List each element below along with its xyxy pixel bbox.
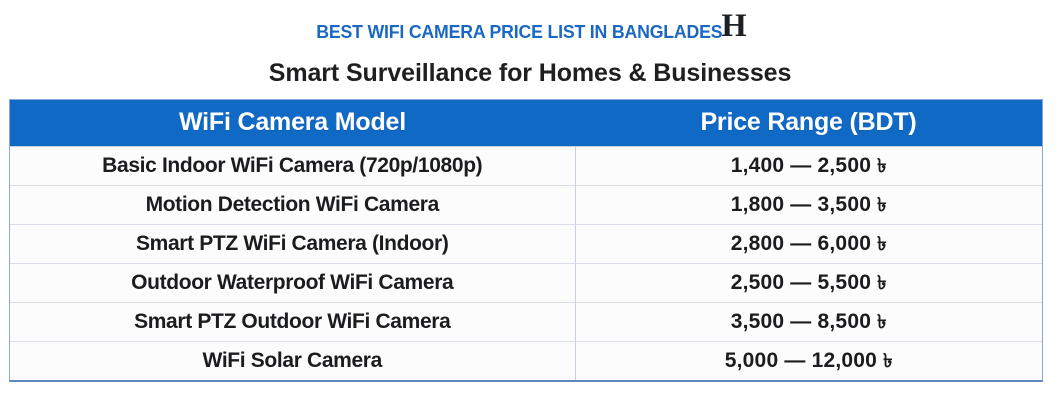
column-header-price: Price Range (BDT) xyxy=(575,100,1042,146)
price-table-body: Basic Indoor WiFi Camera (720p/1080p)1,4… xyxy=(10,146,1042,380)
price-list-infographic: BEST WIFI CAMERA PRICE LIST IN BANGLADES… xyxy=(0,0,1060,400)
cell-camera-model: Smart PTZ Outdoor WiFi Camera xyxy=(10,302,575,341)
column-header-model: WiFi Camera Model xyxy=(10,100,575,146)
table-row: WiFi Solar Camera5,000 — 12,000 ৳ xyxy=(10,341,1042,380)
table-row: Motion Detection WiFi Camera1,800 — 3,50… xyxy=(10,185,1042,224)
page-subtitle: Smart Surveillance for Homes & Businesse… xyxy=(0,58,1060,88)
table-row: Outdoor Waterproof WiFi Camera2,500 — 5,… xyxy=(10,263,1042,302)
cell-price-range: 2,800 — 6,000 ৳ xyxy=(575,224,1042,263)
page-title-trailing-letter: H xyxy=(721,8,746,44)
cell-camera-model: WiFi Solar Camera xyxy=(10,341,575,380)
page-title-text: BEST WIFI CAMERA PRICE LIST IN BANGLADES xyxy=(316,22,722,42)
price-table-container: WiFi Camera Model Price Range (BDT) Basi… xyxy=(9,99,1043,382)
taka-currency-symbol: ৳ xyxy=(877,311,887,333)
taka-currency-symbol: ৳ xyxy=(877,155,887,177)
cell-camera-model: Basic Indoor WiFi Camera (720p/1080p) xyxy=(10,146,575,185)
cell-price-range: 1,400 — 2,500 ৳ xyxy=(575,146,1042,185)
cell-camera-model: Smart PTZ WiFi Camera (Indoor) xyxy=(10,224,575,263)
table-header-row: WiFi Camera Model Price Range (BDT) xyxy=(10,100,1042,146)
page-title: BEST WIFI CAMERA PRICE LIST IN BANGLADES… xyxy=(8,6,1052,54)
cell-price-range: 2,500 — 5,500 ৳ xyxy=(575,263,1042,302)
cell-price-range: 5,000 — 12,000 ৳ xyxy=(575,341,1042,380)
taka-currency-symbol: ৳ xyxy=(877,272,887,294)
price-table: WiFi Camera Model Price Range (BDT) Basi… xyxy=(10,100,1042,380)
cell-price-range: 1,800 — 3,500 ৳ xyxy=(575,185,1042,224)
cell-camera-model: Outdoor Waterproof WiFi Camera xyxy=(10,263,575,302)
cell-camera-model: Motion Detection WiFi Camera xyxy=(10,185,575,224)
price-table-header: WiFi Camera Model Price Range (BDT) xyxy=(10,100,1042,146)
table-row: Smart PTZ WiFi Camera (Indoor)2,800 — 6,… xyxy=(10,224,1042,263)
taka-currency-symbol: ৳ xyxy=(877,194,887,216)
table-row: Smart PTZ Outdoor WiFi Camera3,500 — 8,5… xyxy=(10,302,1042,341)
table-row: Basic Indoor WiFi Camera (720p/1080p)1,4… xyxy=(10,146,1042,185)
title-block: BEST WIFI CAMERA PRICE LIST IN BANGLADES… xyxy=(0,0,1060,88)
cell-price-range: 3,500 — 8,500 ৳ xyxy=(575,302,1042,341)
taka-currency-symbol: ৳ xyxy=(877,233,887,255)
taka-currency-symbol: ৳ xyxy=(883,350,893,372)
